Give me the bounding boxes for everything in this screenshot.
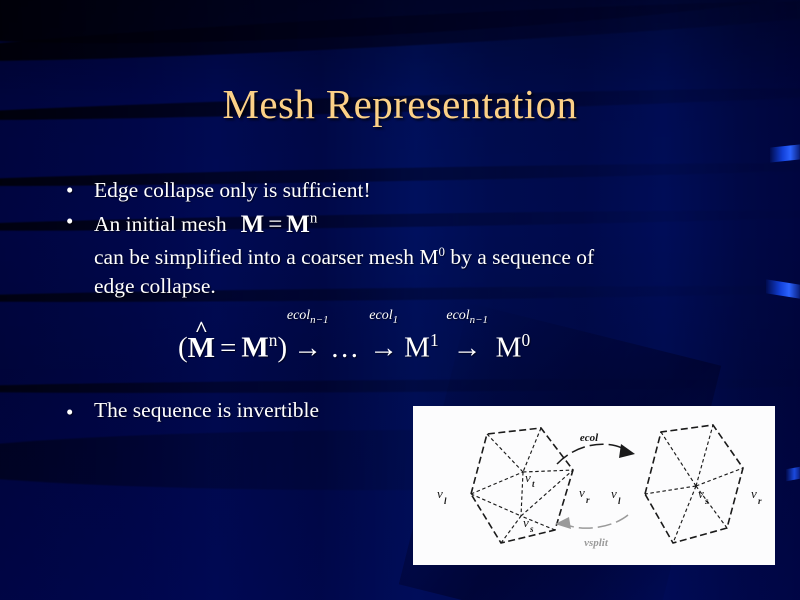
- bullet-marker: •: [60, 176, 94, 205]
- bullet-item-1: • Edge collapse only is sufficient!: [60, 176, 760, 205]
- equation-ellipsis: …: [328, 332, 363, 364]
- equation-label-2-sub: 1: [393, 313, 398, 325]
- figure-edge-collapse-diagram: v t v l v r v s ecol vsplit: [413, 406, 775, 565]
- equation-exponent-0: 0: [521, 330, 530, 350]
- right-vertex-vr-sub: r: [758, 496, 762, 506]
- bullet-text-2-wrapper: An initial meshM=Mn: [94, 207, 760, 241]
- bullet-text-1: Edge collapse only is sufficient!: [94, 176, 760, 205]
- equation-arrow-1: ecoln−1→: [287, 332, 328, 365]
- equation-m-0: M: [496, 332, 522, 364]
- left-vertex-vs-sub: s: [529, 524, 534, 534]
- figure-svg: v t v l v r v s ecol vsplit: [413, 406, 775, 565]
- arrow-glyph-2: →: [369, 332, 398, 364]
- continuation-part-2: by a sequence of: [445, 245, 594, 269]
- main-equation: (M=Mn)ecoln−1→…ecol1→M1ecoln−1→M0: [178, 330, 530, 365]
- left-vertex-vs: v: [523, 515, 529, 530]
- vsplit-arrow-label: vsplit: [584, 537, 609, 549]
- equation-open-paren: (: [178, 332, 188, 364]
- accent-bar-right-top: [770, 144, 800, 162]
- equation-label-2: ecol1: [369, 308, 398, 326]
- left-vertex-vt: v: [525, 470, 531, 485]
- equation-m-n: M: [241, 332, 268, 364]
- equation-m-hat: M: [188, 332, 215, 365]
- equation-exponent-1: 1: [430, 330, 439, 350]
- equation-equals: =: [215, 332, 241, 364]
- slide-body: • Edge collapse only is sufficient! • An…: [60, 176, 760, 302]
- equation-arrow-3: ecoln−1→: [439, 332, 496, 365]
- equation-label-1-sub: n−1: [310, 313, 328, 325]
- continuation-line-2: edge collapse.: [94, 272, 760, 301]
- slide: Mesh Representation • Edge collapse only…: [0, 0, 800, 600]
- bullet-item-3: • The sequence is invertible: [60, 398, 319, 427]
- equation-label-3-op: ecol: [446, 308, 469, 323]
- bullet-item-2: • An initial meshM=Mn: [60, 207, 760, 241]
- bullet-marker: •: [60, 398, 94, 427]
- right-vertex-vs: v: [698, 486, 704, 501]
- continuation-line-1: can be simplified into a coarser mesh M0…: [94, 243, 760, 272]
- equation-label-3: ecoln−1: [446, 308, 488, 326]
- equation-label-3-sub: n−1: [470, 313, 488, 325]
- accent-bar-right-lower: [786, 467, 800, 481]
- arrow-glyph-3: →: [453, 332, 482, 364]
- inline-math-lhs: M: [241, 211, 265, 238]
- equation-label-1-op: ecol: [287, 308, 310, 323]
- left-vertex-vr-sub: r: [586, 495, 590, 505]
- left-vertex-vr: v: [579, 485, 585, 500]
- right-vertex-vl: v: [611, 486, 617, 501]
- inline-math-rhs: M: [286, 211, 310, 238]
- left-vertex-vl: v: [437, 486, 443, 501]
- equation-label-1: ecoln−1: [287, 308, 329, 326]
- equation-m-1: M: [404, 332, 430, 364]
- continuation-part-1: can be simplified into a coarser mesh M: [94, 245, 439, 269]
- inline-equation-m-equals-mn: M=Mn: [227, 211, 318, 238]
- inline-math-equals: =: [264, 211, 286, 238]
- bullet-text-2: An initial mesh: [94, 212, 227, 236]
- bullet-marker: •: [60, 207, 94, 236]
- arrow-glyph-1: →: [293, 332, 322, 364]
- right-vertex-vr: v: [751, 486, 757, 501]
- ecol-arrow-label: ecol: [580, 432, 599, 444]
- inline-math-exponent: n: [310, 211, 318, 227]
- equation-arrow-2: ecol1→: [363, 332, 404, 365]
- equation-close-paren: ): [277, 332, 287, 364]
- bullet-text-3: The sequence is invertible: [94, 398, 319, 427]
- slide-title: Mesh Representation: [0, 80, 800, 128]
- right-vertex-vs-sub: s: [704, 496, 709, 506]
- equation-label-2-op: ecol: [369, 308, 392, 323]
